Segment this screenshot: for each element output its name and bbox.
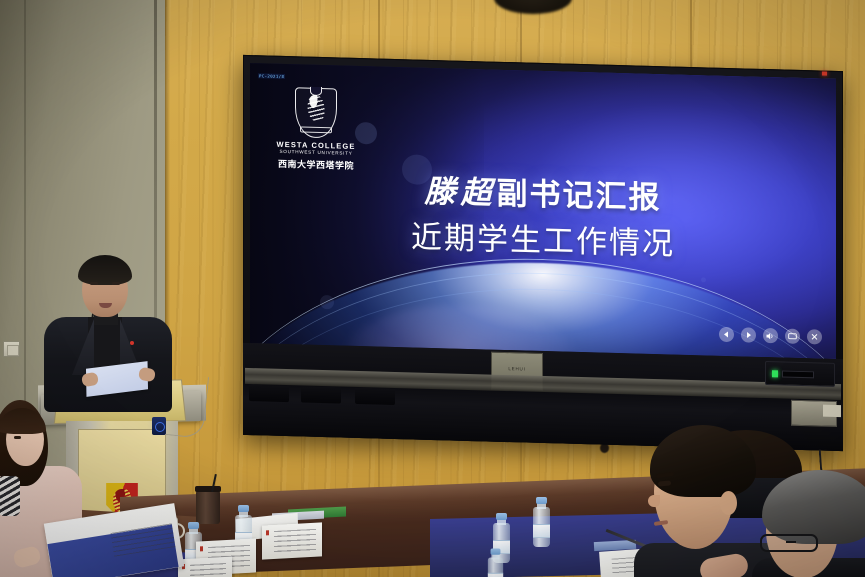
- woman-striped-top: [0, 476, 20, 516]
- slide-title: 滕超副书记汇报 近期学生工作情况: [250, 167, 836, 269]
- water-bottle: [533, 497, 550, 547]
- power-led-green-icon: [772, 370, 778, 377]
- record-led-red-icon: [822, 72, 827, 76]
- man1-ear: [720, 491, 737, 515]
- slide-logo: WESTA COLLEGE SOUTHWEST UNIVERSITY 西南大学西…: [276, 87, 356, 172]
- display-button[interactable]: [785, 329, 800, 344]
- previous-button[interactable]: [719, 327, 734, 342]
- display-brand-text: LEHUI: [492, 366, 542, 372]
- speaker-at-podium: [38, 255, 178, 405]
- volume-button[interactable]: [763, 328, 778, 343]
- attendee-man-foreground-right: [762, 470, 865, 577]
- lectern-control-device[interactable]: [152, 417, 166, 435]
- bokeh-dot: [701, 277, 706, 282]
- man1-nose: [648, 495, 660, 507]
- woman-bangs: [0, 408, 46, 434]
- slide-title-emphasis: 滕超: [425, 174, 497, 212]
- wall-mounted-display[interactable]: PC-2021/8 WESTA COLLEGE SOUTHWEST UNIVER…: [243, 55, 843, 451]
- name-card: [178, 557, 232, 577]
- display-screen[interactable]: PC-2021/8 WESTA COLLEGE SOUTHWEST UNIVER…: [250, 63, 836, 359]
- speaker-eyes: [90, 282, 120, 285]
- glasses-icon: [760, 534, 818, 552]
- presentation-scene: PC-2021/8 WESTA COLLEGE SOUTHWEST UNIVER…: [0, 0, 865, 577]
- speaker-lapel-pin-icon: [130, 341, 134, 345]
- light-switch[interactable]: [3, 341, 20, 357]
- bokeh-dot: [320, 295, 334, 309]
- man2-grey-hair: [762, 470, 865, 544]
- display-control-panel[interactable]: [765, 361, 835, 387]
- close-button[interactable]: [807, 329, 822, 344]
- play-button[interactable]: [741, 327, 756, 342]
- woman-eye: [14, 436, 21, 439]
- water-bottle: [488, 549, 503, 577]
- slide-title-line1-rest: 副书记汇报: [497, 176, 662, 216]
- speaker-hair: [78, 255, 132, 285]
- osd-control-bar[interactable]: [719, 327, 822, 345]
- card-slot[interactable]: [782, 370, 814, 378]
- display-spec-label: [823, 405, 841, 417]
- name-card: [262, 522, 322, 559]
- westa-college-crest-icon: [295, 87, 337, 138]
- tumbler-with-straw: [196, 490, 220, 524]
- screen-corner-tag: PC-2021/8: [258, 73, 285, 79]
- man1-hair: [650, 425, 756, 497]
